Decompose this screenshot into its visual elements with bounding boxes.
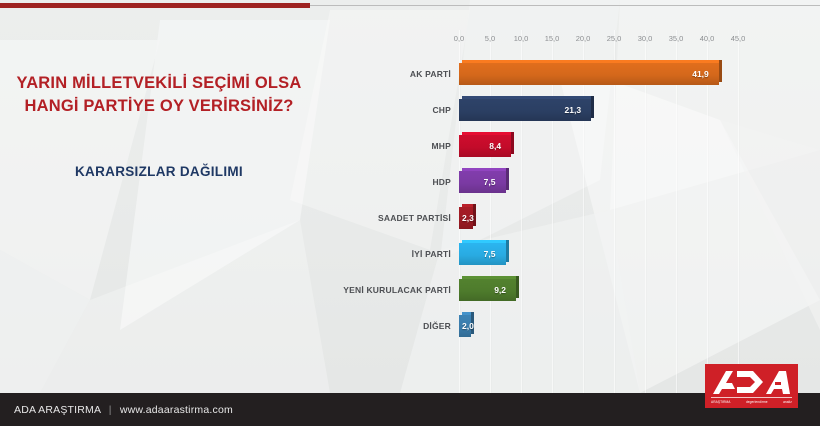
bar-value-label: 7,5 [484, 249, 496, 259]
x-axis-ticks: 0,05,010,015,020,025,030,035,040,045,0 [0, 34, 820, 46]
x-axis-tick-label: 40,0 [700, 34, 715, 43]
page-subtitle: KARARSIZLAR DAĞILIMI [0, 164, 318, 179]
x-axis-tick-label: 10,0 [514, 34, 529, 43]
top-divider-line [310, 5, 820, 6]
bar-top-face [462, 96, 594, 99]
bar-value-label: 2,0 [462, 321, 474, 331]
bar-wrapper: 2,3 [459, 207, 473, 229]
bar-side-face [516, 276, 519, 298]
bar-side-face [506, 168, 509, 190]
bar-top-face [462, 168, 509, 171]
chart-row: İYİ PARTİ7,5 [0, 236, 820, 272]
category-label: MHP [291, 141, 451, 151]
bar-chart: 0,05,010,015,020,025,030,035,040,045,0 A… [0, 0, 820, 393]
bar-side-face [591, 96, 594, 118]
bar-value-label: 8,4 [489, 141, 501, 151]
bar-value-label: 7,5 [484, 177, 496, 187]
chart-row: SAADET PARTİSİ2,3 [0, 200, 820, 236]
logo-sub-center: degerlendirme [746, 400, 768, 404]
bar-top-face [462, 276, 519, 279]
x-axis-tick-label: 45,0 [731, 34, 746, 43]
page-title: YARIN MİLLETVEKİLİ SEÇİMİ OLSA HANGİ PAR… [0, 72, 318, 119]
bar-value-label: 41,9 [692, 69, 709, 79]
ada-logo-mark [711, 369, 792, 395]
footer-separator: | [109, 404, 112, 416]
category-label: DİĞER [291, 321, 451, 331]
category-label: SAADET PARTİSİ [291, 213, 451, 223]
bar-side-face [506, 240, 509, 262]
bar-i̇yi̇-parti̇[interactable] [459, 243, 506, 265]
bar-value-label: 2,3 [462, 213, 474, 223]
bar-wrapper: 7,5 [459, 171, 506, 193]
category-label: YENİ KURULACAK PARTİ [291, 285, 451, 295]
bar-top-face [462, 60, 722, 63]
x-axis-tick-label: 30,0 [638, 34, 653, 43]
bar-top-face [462, 240, 509, 243]
bar-mhp[interactable] [459, 135, 511, 157]
bar-wrapper: 9,2 [459, 279, 516, 301]
bar-wrapper: 41,9 [459, 63, 719, 85]
bar-side-face [719, 60, 722, 82]
x-axis-tick-label: 5,0 [485, 34, 495, 43]
footer-brand: ADA ARAŞTIRMA [14, 404, 101, 416]
ada-logo: ARAŞTIRMA degerlendirme analiz [705, 364, 798, 408]
slide-canvas: YARIN MİLLETVEKİLİ SEÇİMİ OLSA HANGİ PAR… [0, 0, 820, 426]
bar-side-face [511, 132, 514, 154]
chart-row: DİĞER2,0 [0, 308, 820, 344]
x-axis-tick-label: 15,0 [545, 34, 560, 43]
bar-value-label: 9,2 [494, 285, 506, 295]
bar-wrapper: 8,4 [459, 135, 511, 157]
chart-row: MHP8,4 [0, 128, 820, 164]
bar-yeni̇-kurulacak-parti̇[interactable] [459, 279, 516, 301]
x-axis-tick-label: 20,0 [576, 34, 591, 43]
x-axis-tick-label: 35,0 [669, 34, 684, 43]
bar-ak-parti̇[interactable] [459, 63, 719, 85]
x-axis-tick-label: 25,0 [607, 34, 622, 43]
footer-bar: ADA ARAŞTIRMA | www.adaarastirma.com [0, 393, 820, 426]
bar-wrapper: 21,3 [459, 99, 591, 121]
category-label: İYİ PARTİ [291, 249, 451, 259]
bar-hdp[interactable] [459, 171, 506, 193]
bar-wrapper: 7,5 [459, 243, 506, 265]
footer-website[interactable]: www.adaarastirma.com [120, 404, 233, 416]
footer-text: ADA ARAŞTIRMA | www.adaarastirma.com [14, 404, 233, 416]
bar-value-label: 21,3 [565, 105, 582, 115]
x-axis-tick-label: 0,0 [454, 34, 464, 43]
bar-top-face [462, 132, 514, 135]
top-accent-bar [0, 3, 310, 8]
bar-wrapper: 2,0 [459, 315, 471, 337]
logo-sub-left: ARAŞTIRMA [711, 400, 731, 404]
chart-row: YENİ KURULACAK PARTİ9,2 [0, 272, 820, 308]
ada-logo-subtext: ARAŞTIRMA degerlendirme analiz [711, 397, 792, 404]
logo-sub-right: analiz [783, 400, 792, 404]
